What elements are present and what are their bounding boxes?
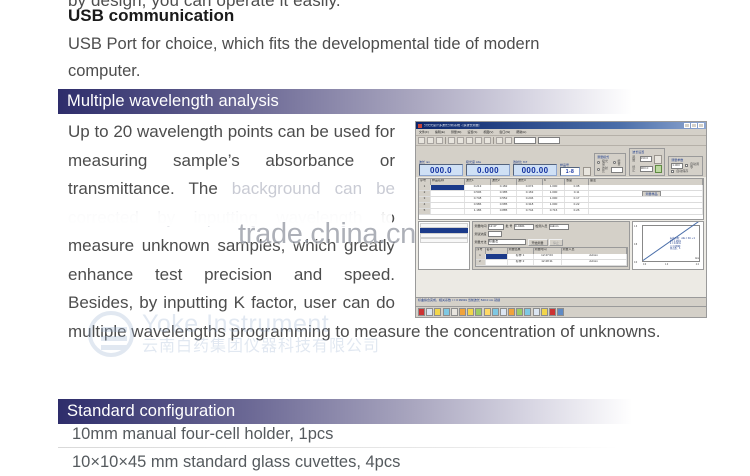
software-screenshot: 分光光度计多波长分析系统 - [多波长测量] 文件(F) 编辑(E) 测量(M)… — [415, 121, 707, 318]
cell-remark — [589, 185, 703, 190]
field-row[interactable]: 起始 190.0 — [632, 155, 662, 164]
configuration-divider — [58, 447, 618, 448]
list-item[interactable] — [420, 233, 468, 238]
cell-wl3: 0.744 — [517, 209, 543, 214]
test-concentration-input[interactable] — [488, 231, 502, 237]
status-bar: 标曲拟合完成，相关系数 r = 0.99991 当前波长 540.0 nm 就绪 — [416, 297, 706, 306]
cell-name — [431, 185, 465, 190]
cell-remark — [589, 209, 703, 214]
cell-user: Admin — [562, 260, 627, 265]
field-label: 起始 — [632, 156, 637, 162]
stepper-icon[interactable] — [583, 167, 591, 176]
field-label: 终止 — [632, 166, 638, 172]
readout-transmittance: 透射比 %T 000.00 — [513, 161, 557, 177]
radio-row[interactable]: 透射比 — [597, 167, 623, 173]
form-row[interactable]: 测量方法 标曲法 开始测量 停止 — [475, 239, 628, 246]
new-icon[interactable] — [418, 137, 425, 144]
print-icon[interactable] — [448, 137, 455, 144]
section-header-standard-configuration: Standard configuration — [58, 399, 650, 424]
cell-remark: 测量样品 — [589, 191, 703, 196]
start-wavelength-input[interactable]: 190.0 — [640, 156, 653, 162]
product-spec-page: by design, you can operate it easily. US… — [0, 0, 750, 476]
cell-result: 标样 1 — [508, 254, 534, 259]
cell-wl1: 0.986 — [465, 203, 491, 208]
end-wavelength-input[interactable]: 900.0 — [640, 166, 653, 172]
results-sub-grid[interactable]: 序号 名称 测量结果 测量时间 测量人员 1 标样 1 12:47:03 Adm… — [475, 247, 628, 267]
measure-form-panel[interactable]: 测量时间 12:47 批 号 C-0401 检测人员 Admin 测试浓度 测量… — [472, 221, 630, 270]
palette-swatch-icon[interactable] — [549, 308, 556, 316]
palette-swatch-icon[interactable] — [443, 308, 450, 316]
table-row[interactable]: 5 1.186 0.885 0.744 0.716 0.26 — [419, 209, 703, 215]
cell-wl3: 0.163 — [517, 191, 543, 196]
operator-input[interactable]: Admin — [549, 224, 569, 230]
menu-item-window[interactable]: 窗口(W) — [499, 131, 510, 134]
form-label: 检测人员 — [535, 225, 547, 228]
cell-k: 1.000 — [543, 191, 565, 196]
cell-wl1: 1.186 — [465, 209, 491, 214]
list-item[interactable] — [420, 223, 468, 228]
section-header-multiple-wavelength-analysis: Multiple wavelength analysis — [58, 89, 650, 114]
menu-item-measure[interactable]: 测量(M) — [451, 131, 462, 134]
cell-wl2: 0.182 — [491, 185, 517, 190]
palette-toolbar[interactable] — [416, 306, 706, 317]
palette-swatch-icon[interactable] — [533, 308, 540, 316]
cell-index: 2 — [476, 260, 486, 265]
cell-conc: 0.17 — [565, 197, 589, 202]
cell-conc: 0.11 — [565, 191, 589, 196]
checkbox-label: 自动保存 — [676, 170, 688, 173]
cell-user: Admin — [562, 254, 627, 259]
readout-absorbance: 吸光度 Abs 0.000 — [466, 161, 510, 177]
eqn-line: 测点数：6 — [670, 248, 680, 250]
form-label: 测量时间 — [475, 225, 487, 228]
x-tick-label: 2.0 — [696, 264, 699, 266]
cell-index: 2 — [419, 191, 431, 196]
radio-row[interactable]: 吸光度 能量 — [597, 160, 623, 166]
open-icon[interactable] — [427, 137, 434, 144]
window-controls[interactable] — [684, 123, 704, 128]
cell-k: 0.716 — [543, 209, 565, 214]
batch-no-input[interactable]: C-0401 — [514, 224, 534, 230]
tool-bar[interactable] — [416, 136, 706, 146]
cell-conc: 0.08 — [565, 185, 589, 190]
cell-k: 1.000 — [543, 197, 565, 202]
sample-list-pane[interactable] — [418, 221, 470, 270]
cell-index: 4 — [419, 203, 431, 208]
radio-icon[interactable] — [613, 161, 616, 164]
form-label: 测量方法 — [475, 241, 487, 244]
cell-name — [431, 203, 465, 208]
chart-plot-area: 标曲方程：Abs = KC + b K = 1.2801 b = 0.0031 … — [642, 225, 700, 262]
paste-icon[interactable] — [484, 137, 491, 144]
copy-icon[interactable] — [475, 137, 482, 144]
stop-measure-button[interactable]: 停止 — [549, 239, 563, 246]
palette-swatch-icon[interactable] — [492, 308, 499, 316]
cell-conc: 0.26 — [565, 209, 589, 214]
menu-item-view[interactable]: 视图(V) — [483, 131, 493, 134]
x-tick-label: 1.0 — [665, 264, 668, 266]
palette-swatch-icon[interactable] — [500, 308, 507, 316]
cell-k: 1.000 — [543, 185, 565, 190]
radio-label: 透射比 — [602, 167, 609, 173]
y-tick-label: 0.8 — [634, 244, 637, 246]
readout-strip: 波长 nm 000.0 吸光度 Abs 0.000 透射比 %T 000.00 … — [416, 146, 706, 177]
section-header-label: Multiple wavelength analysis — [58, 92, 279, 111]
list-item[interactable] — [420, 238, 468, 243]
list-cell — [420, 238, 468, 243]
group-measure-mode: 测量模式 吸光度 能量 透射比 — [594, 153, 626, 176]
k-factor-input[interactable]: 1.000 — [671, 163, 683, 169]
cell-wl3: 0.074 — [517, 185, 543, 190]
start-measure-button[interactable]: 开始测量 — [528, 239, 548, 246]
cell-conc: 0.22 — [565, 203, 589, 208]
readout-value: 000.00 — [513, 164, 557, 176]
confirm-check-icon[interactable] — [655, 165, 663, 173]
group-wavelength-setup: 波长设置 起始 190.0 终止 900.0 — [629, 148, 665, 176]
palette-swatch-icon[interactable] — [418, 308, 425, 316]
menu-item-file[interactable]: 文件(F) — [419, 131, 429, 134]
cell-name — [486, 254, 508, 259]
toolbar-separator — [445, 137, 446, 144]
window-title: 分光光度计多波长分析系统 - [多波长测量] — [424, 124, 684, 127]
form-label: 批 号 — [506, 225, 513, 228]
section-header-label: Standard configuration — [58, 402, 235, 421]
palette-swatch-icon[interactable] — [467, 308, 474, 316]
list-item[interactable] — [420, 228, 468, 233]
cell-wl2: 0.552 — [491, 197, 517, 202]
toolbar-separator — [493, 137, 494, 144]
cell-wl3: 0.246 — [517, 197, 543, 202]
cell-result: 标样 2 — [508, 260, 534, 265]
calibration-curve-chart: 标曲方程：Abs = KC + b K = 1.2801 b = 0.0031 … — [632, 221, 704, 270]
measure-sample-button[interactable]: 测量样品 — [642, 191, 660, 196]
sample-number-field[interactable]: 样品号 1-8 — [560, 164, 580, 177]
chart-equation-annotation: 标曲方程：Abs = KC + b K = 1.2801 b = 0.0031 … — [670, 238, 695, 251]
form-label: 测试浓度 — [475, 233, 487, 236]
cell-name — [431, 197, 465, 202]
menu-item-edit[interactable]: 编辑(E) — [435, 131, 445, 134]
palette-swatch-icon[interactable] — [541, 308, 548, 316]
palette-swatch-icon[interactable] — [426, 308, 433, 316]
cell-time: 12:47:03 — [534, 254, 562, 259]
x-tick-label: 0.0 — [643, 264, 646, 266]
close-icon[interactable] — [698, 123, 704, 128]
stepper-icon[interactable] — [654, 155, 662, 164]
readout-value: 0.000 — [466, 164, 510, 176]
chart-axis-corner-label: Abs — [695, 258, 699, 260]
redo-icon[interactable] — [505, 137, 512, 144]
cell-wl1: 0.506 — [465, 191, 491, 196]
configuration-row: 10mm manual four-cell holder, 1pcs — [72, 425, 333, 444]
cell-wl2: 0.385 — [491, 191, 517, 196]
cell-wl1: 0.748 — [465, 197, 491, 202]
sample-number-value[interactable]: 1-8 — [560, 167, 580, 176]
group-measure-params: 测量参数 1.000 自动调零 自动保存 — [668, 156, 703, 176]
measure-time-input[interactable]: 12:47 — [488, 224, 504, 230]
palette-swatch-icon[interactable] — [508, 308, 515, 316]
cell-name — [431, 191, 465, 196]
cell-index: 1 — [476, 254, 486, 259]
preview-icon[interactable] — [457, 137, 464, 144]
list-cell — [420, 223, 468, 228]
measurement-data-grid[interactable]: 序号 样品名称 波长1 波长2 波长3 K 浓度 备注 1 0.213 0.18… — [418, 178, 704, 220]
save-icon[interactable] — [436, 137, 443, 144]
cell-wl2: 0.685 — [491, 203, 517, 208]
list-cell — [420, 228, 468, 233]
field-row[interactable]: 终止 900.0 — [632, 165, 662, 173]
radio-icon[interactable] — [597, 168, 600, 171]
mode-value-field[interactable] — [611, 167, 623, 173]
cell-index: 5 — [419, 209, 431, 214]
list-cell — [420, 233, 468, 238]
menu-item-help[interactable]: 帮助(H) — [516, 131, 526, 134]
cell-wl3: 0.318 — [517, 203, 543, 208]
palette-swatch-icon[interactable] — [524, 308, 531, 316]
toolbar-combo-field[interactable] — [538, 137, 560, 144]
y-tick-label: 1.6 — [634, 226, 637, 228]
palette-swatch-icon[interactable] — [459, 308, 466, 316]
readout-value: 000.0 — [419, 164, 463, 176]
toolbar-text-field[interactable] — [514, 137, 536, 144]
checkbox-icon[interactable] — [671, 170, 674, 173]
radio-label: 吸光度 — [602, 160, 611, 166]
usb-communication-body: USB Port for choice, which fits the deve… — [68, 31, 588, 85]
method-select[interactable]: 标曲法 — [488, 239, 526, 245]
app-logo-icon — [418, 124, 422, 128]
cell-wl2: 0.885 — [491, 209, 517, 214]
palette-swatch-icon[interactable] — [434, 308, 441, 316]
cell-time: 12:48:11 — [534, 260, 562, 265]
undo-icon[interactable] — [496, 137, 503, 144]
cut-icon[interactable] — [466, 137, 473, 144]
field-row[interactable]: 自动保存 — [671, 170, 700, 173]
lower-panels: 测量时间 12:47 批 号 C-0401 检测人员 Admin 测试浓度 测量… — [416, 221, 706, 270]
palette-swatch-icon[interactable] — [451, 308, 458, 316]
minimize-icon[interactable] — [684, 123, 690, 128]
palette-swatch-icon[interactable] — [484, 308, 491, 316]
checkbox-label: 自动调零 — [690, 163, 700, 169]
window-titlebar: 分光光度计多波长分析系统 - [多波长测量] — [416, 122, 706, 129]
group-title: 波长设置 — [632, 151, 662, 154]
field-row[interactable]: 1.000 自动调零 — [671, 163, 700, 169]
usb-communication-heading: USB communication — [68, 6, 234, 26]
cell-index: 1 — [419, 185, 431, 190]
form-row[interactable]: 测试浓度 — [475, 231, 628, 237]
table-row[interactable]: 2 标样 2 12:48:11 Admin — [476, 260, 627, 266]
radio-label: 能量 — [618, 160, 624, 166]
cell-remark — [589, 197, 703, 202]
cell-index: 3 — [419, 197, 431, 202]
cell-name — [431, 209, 465, 214]
y-tick-label: 0.0 — [634, 262, 637, 264]
menu-bar[interactable]: 文件(F) 编辑(E) 测量(M) 设置(S) 视图(V) 窗口(W) 帮助(H… — [416, 129, 706, 136]
checkbox-icon[interactable] — [685, 164, 688, 167]
maximize-icon[interactable] — [691, 123, 697, 128]
menu-item-setup[interactable]: 设置(S) — [467, 131, 477, 134]
palette-swatch-icon[interactable] — [516, 308, 523, 316]
cell-k: 1.000 — [543, 203, 565, 208]
form-row[interactable]: 测量时间 12:47 批 号 C-0401 检测人员 Admin — [475, 224, 628, 230]
cell-name — [486, 260, 508, 265]
palette-swatch-icon[interactable] — [557, 308, 564, 316]
cell-remark — [589, 203, 703, 208]
cell-wl1: 0.213 — [465, 185, 491, 190]
configuration-row: 10×10×45 mm standard glass cuvettes, 4pc… — [72, 453, 400, 472]
readout-wavelength: 波长 nm 000.0 — [419, 161, 463, 177]
palette-swatch-icon[interactable] — [475, 308, 482, 316]
radio-icon[interactable] — [597, 161, 600, 164]
